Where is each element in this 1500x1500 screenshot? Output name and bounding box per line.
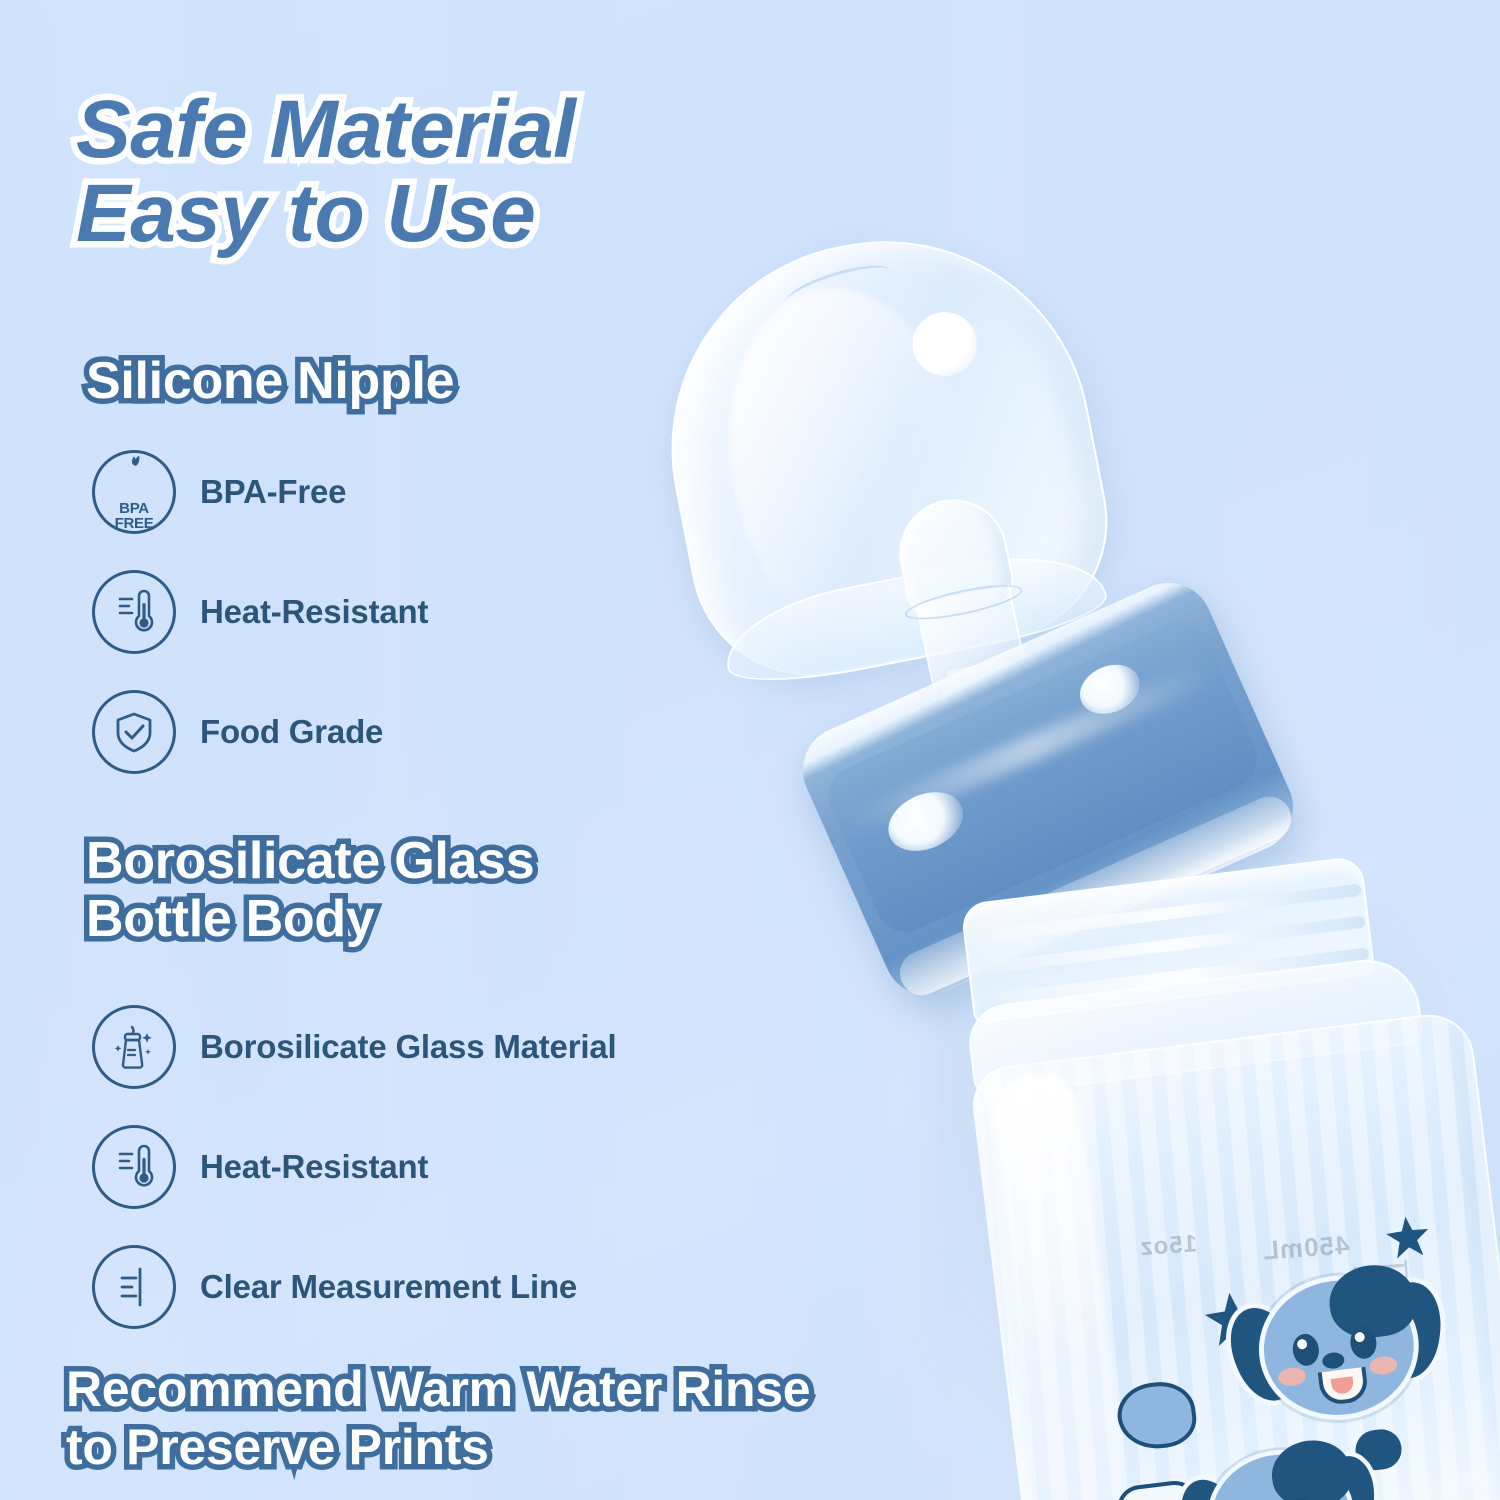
feature-measurement-line: Clear Measurement Line <box>92 1245 577 1329</box>
footer-note-line-1: Recommend Warm Water Rinse <box>66 1360 1066 1418</box>
bottle-thread <box>991 884 1362 941</box>
footer-note-line-2: to Preserve Prints <box>66 1418 1066 1476</box>
scale-label-oz: 15oz <box>1139 1230 1198 1262</box>
puppy-tongue <box>1331 1376 1355 1395</box>
scale-tick <box>1377 1288 1407 1293</box>
feature-borosilicate-material: Borosilicate Glass Material <box>92 1005 616 1089</box>
page-title: Safe Material Easy to Use <box>76 88 896 255</box>
bottle-shoulder <box>965 954 1425 1098</box>
scale-label-ml: 450mL <box>1261 1230 1350 1267</box>
star-print <box>1202 1289 1264 1351</box>
feature-bpa-free: BPAFREE BPA-Free <box>92 450 346 534</box>
puppy-head-patch <box>1325 1260 1419 1342</box>
bone-print <box>1114 1478 1202 1500</box>
cap-rim <box>717 539 1112 695</box>
feature-heat-resistant-glass: Heat-Resistant <box>92 1125 428 1209</box>
puppy-head <box>1199 1442 1361 1500</box>
measurement-scale: 450mL 15oz +5 <box>1075 1226 1415 1399</box>
section-heading-line: Borosilicate Glass <box>86 832 846 890</box>
star-print <box>1384 1214 1433 1263</box>
scale-tick <box>1353 1264 1405 1271</box>
feature-label: Borosilicate Glass Material <box>200 1028 616 1066</box>
puppy-ear <box>1163 1464 1262 1500</box>
feature-label: Heat-Resistant <box>200 1148 428 1186</box>
product-infographic: 450mL 15oz +5 <box>0 0 1500 1500</box>
puppy-ear <box>1367 1273 1451 1387</box>
paw-print <box>1353 1427 1404 1472</box>
puppy-head-patch <box>1268 1436 1355 1500</box>
page-title-line-1: Safe Material <box>76 88 896 172</box>
section-heading-line: Silicone Nipple <box>86 352 846 410</box>
scale-tick <box>1356 1312 1408 1319</box>
puppy-cheek <box>1368 1355 1398 1376</box>
bone-print <box>1114 1378 1199 1453</box>
nipple-ring <box>903 578 1025 626</box>
puppy-eye <box>1291 1332 1321 1367</box>
page-title-line-2: Easy to Use <box>76 172 896 256</box>
scale-label-mid: +5 <box>1277 1313 1306 1341</box>
bottle-neck <box>960 855 1376 1023</box>
puppy-cheek <box>1277 1366 1307 1387</box>
bottle-thread <box>995 915 1366 972</box>
nipple-tip <box>889 489 1019 625</box>
puppy-eye <box>1289 1496 1316 1500</box>
cap-highlight-spot <box>908 306 983 381</box>
collar-lip <box>893 790 1298 1003</box>
section-heading-silicone-nipple: Silicone Nipple <box>86 352 846 410</box>
cap-shell <box>636 206 1128 696</box>
baby-bottle-sparkle-icon <box>92 1005 176 1089</box>
section-heading-glass-body: Borosilicate Glass Bottle Body <box>86 832 846 948</box>
collar-highlight-left <box>879 781 972 862</box>
feature-heat-resistant-nipple: Heat-Resistant <box>92 570 428 654</box>
thermometer-icon <box>92 1125 176 1209</box>
feature-label: BPA-Free <box>200 473 346 511</box>
puppy-nose <box>1321 1351 1345 1370</box>
feature-label: Food Grade <box>200 713 383 751</box>
puppy-ear <box>1306 1448 1384 1500</box>
nipple-vent-nub <box>947 712 984 755</box>
feature-label: Clear Measurement Line <box>200 1268 577 1306</box>
thermometer-icon <box>92 570 176 654</box>
shield-check-icon <box>92 690 176 774</box>
puppy-eye <box>1349 1325 1379 1360</box>
bpa-free-icon-caption: BPAFREE <box>115 501 154 531</box>
measurement-scale-icon <box>92 1245 176 1329</box>
section-heading-line: Bottle Body <box>86 890 846 948</box>
scale-axis <box>1405 1260 1414 1364</box>
nipple-neck <box>915 584 1027 688</box>
footer-care-note: Recommend Warm Water Rinse to Preserve P… <box>66 1360 1066 1476</box>
bpa-free-icon: BPAFREE <box>92 450 176 534</box>
collar-highlight-right <box>1072 656 1147 723</box>
puppy-head <box>1251 1267 1427 1429</box>
feature-label: Heat-Resistant <box>200 593 428 631</box>
cap-reflection <box>701 267 999 657</box>
puppy-mouth <box>1318 1367 1370 1407</box>
collar-band <box>819 613 1267 941</box>
cap-top-crease <box>781 257 895 317</box>
collar-gloss <box>843 659 1218 838</box>
nipple-base-flare <box>891 647 1081 786</box>
silicone-nipple <box>854 483 1082 782</box>
collar-outer <box>789 569 1307 1009</box>
puppy-ear <box>1211 1291 1319 1417</box>
dome-cap <box>636 206 1128 696</box>
collar-ring <box>789 569 1307 1009</box>
scale-tick <box>1380 1336 1410 1341</box>
bottle-thread <box>999 947 1370 1004</box>
feature-food-grade: Food Grade <box>92 690 383 774</box>
